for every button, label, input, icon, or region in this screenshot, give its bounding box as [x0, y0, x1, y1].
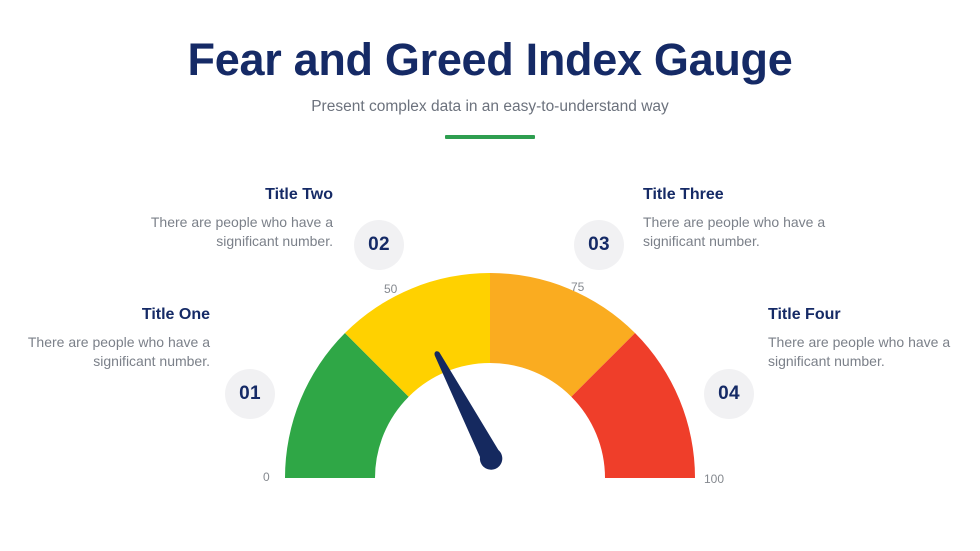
- item-one-title: Title One: [25, 306, 210, 324]
- badge-04: 04: [704, 369, 754, 419]
- title-divider: [445, 135, 535, 139]
- gauge-tick-100: 100: [704, 472, 724, 486]
- gauge-tick-0: 0: [263, 470, 270, 484]
- gauge-svg: [285, 273, 695, 483]
- header: Fear and Greed Index Gauge Present compl…: [0, 36, 980, 139]
- gauge-chart: [285, 273, 695, 483]
- badge-02: 02: [354, 220, 404, 270]
- gauge-tick-75: 75: [571, 280, 584, 294]
- page-title: Fear and Greed Index Gauge: [0, 36, 980, 85]
- item-one-description: There are people who have a significant …: [25, 333, 210, 373]
- item-four-title: Title Four: [768, 306, 958, 324]
- item-three-title: Title Three: [643, 186, 833, 204]
- badge-01: 01: [225, 369, 275, 419]
- gauge-needle: [435, 351, 503, 469]
- item-three: Title Three There are people who have a …: [643, 186, 833, 252]
- item-four: Title Four There are people who have a s…: [768, 306, 958, 372]
- badge-03: 03: [574, 220, 624, 270]
- item-two-title: Title Two: [150, 186, 333, 204]
- item-two-description: There are people who have a significant …: [150, 213, 333, 253]
- item-three-description: There are people who have a significant …: [643, 213, 833, 253]
- item-one: Title One There are people who have a si…: [25, 306, 210, 372]
- item-four-description: There are people who have a significant …: [768, 333, 958, 373]
- slide-canvas: Fear and Greed Index Gauge Present compl…: [0, 0, 980, 551]
- item-two: Title Two There are people who have a si…: [150, 186, 333, 252]
- gauge-tick-50: 50: [384, 282, 397, 296]
- page-subtitle: Present complex data in an easy-to-under…: [0, 98, 980, 117]
